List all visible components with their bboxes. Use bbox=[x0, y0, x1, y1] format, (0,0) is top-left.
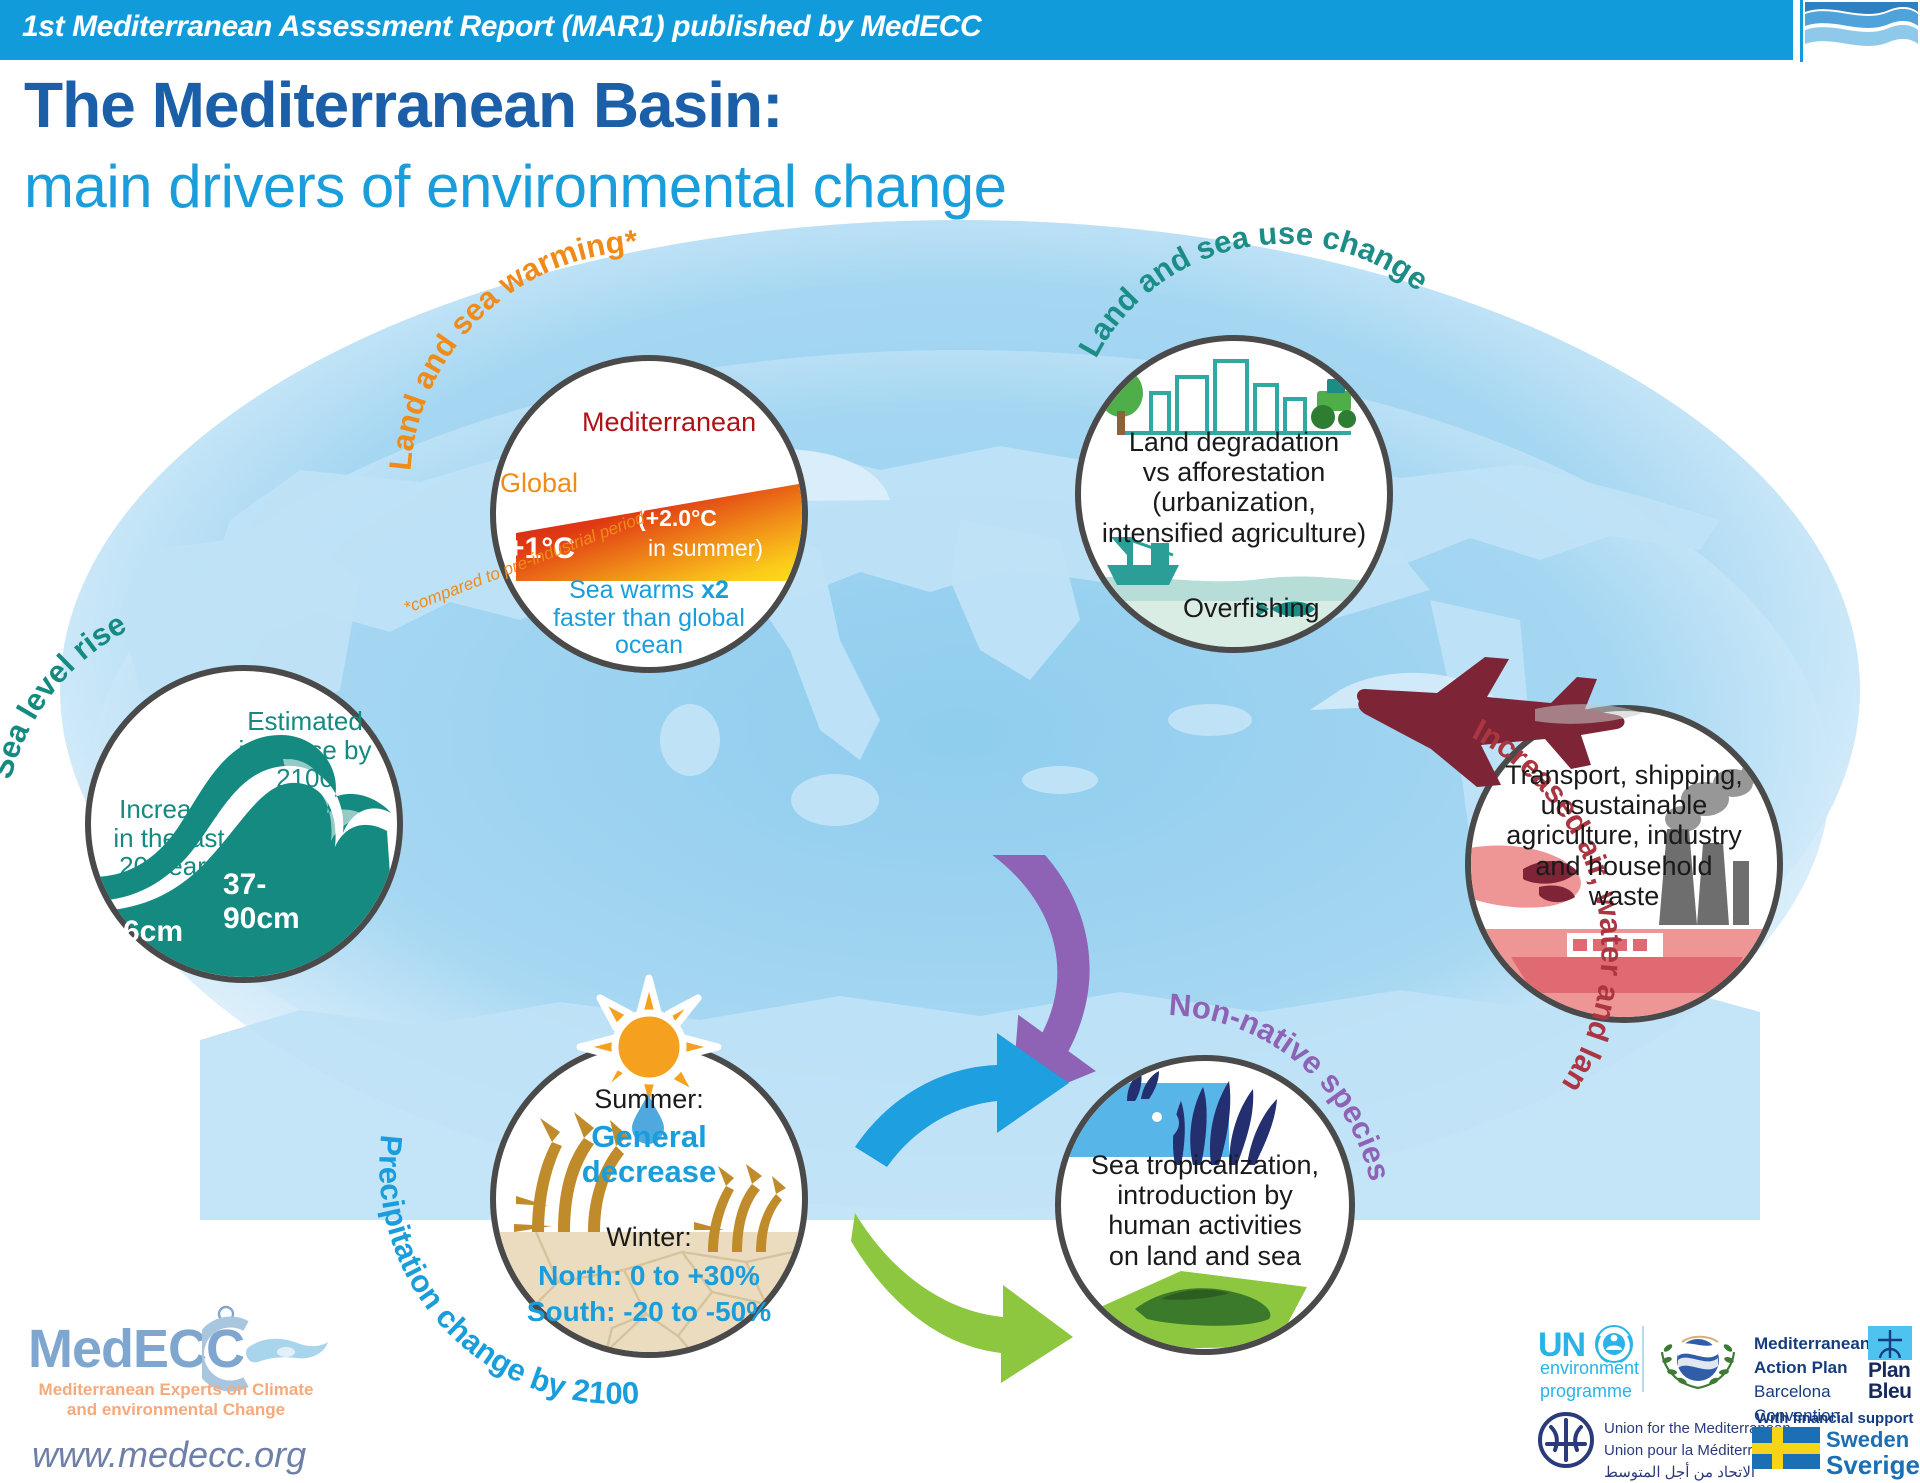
precipitation-summer-value: General decrease bbox=[490, 1120, 808, 1189]
map-l3: Barcelona bbox=[1754, 1382, 1831, 1401]
medecc-url[interactable]: www.medecc.org bbox=[32, 1434, 306, 1476]
sealevel-inc-l1: Increase bbox=[119, 794, 219, 824]
landuse-overfishing-label: Overfishing bbox=[1183, 593, 1320, 624]
precipitation-summer-label: Summer: bbox=[490, 1084, 808, 1115]
sealevel-increase-label: Increase in the last 20 years bbox=[99, 795, 239, 881]
precipitation-winter-north: North: 0 to +30% bbox=[490, 1260, 808, 1292]
sealevel-est-l1: Estimated bbox=[247, 706, 363, 736]
green-arrow-icon bbox=[845, 1185, 1085, 1385]
map-l1: Mediterranean bbox=[1754, 1334, 1870, 1353]
map-l2: Action Plan bbox=[1754, 1358, 1848, 1377]
sealevel-estimated-label: Estimated increase by 2100 bbox=[220, 707, 390, 793]
warming-sea-multiplier: x2 bbox=[701, 576, 729, 604]
sealevel-value-2100: 37-90cm bbox=[223, 868, 300, 936]
un-l1: environment bbox=[1540, 1358, 1639, 1378]
nonnative-description: Sea tropicalization, introduction by hum… bbox=[1069, 1150, 1341, 1271]
plan-l2: Bleu bbox=[1868, 1380, 1912, 1403]
sweden-flag-icon bbox=[1752, 1427, 1820, 1469]
page-title: The Mediterranean Basin: bbox=[24, 68, 782, 142]
blue-arrow-icon bbox=[847, 1015, 1077, 1195]
un-programme-text: environment programme bbox=[1540, 1357, 1639, 1402]
tractor-icon bbox=[1311, 379, 1356, 429]
sealevel-est-l3: 2100 bbox=[276, 763, 334, 793]
pollution-l2: unsustainable bbox=[1541, 790, 1708, 820]
mediterranean-action-plan-emblem-icon bbox=[1656, 1326, 1740, 1392]
logo-divider bbox=[1642, 1326, 1644, 1392]
precipitation-winter-label: Winter: bbox=[490, 1222, 808, 1253]
corner-wave-logo bbox=[1800, 0, 1920, 62]
landuse-l3: (urbanization, bbox=[1152, 487, 1316, 517]
plan-l1: Plan bbox=[1868, 1359, 1910, 1382]
precipitation-winter-south: South: -20 to -50% bbox=[490, 1296, 808, 1328]
plan-bleu-text: Plan Bleu bbox=[1868, 1360, 1912, 1402]
precip-summer-l1: General bbox=[591, 1119, 706, 1154]
nonnative-l3: human activities bbox=[1108, 1210, 1302, 1240]
page-subtitle: main drivers of environmental change bbox=[24, 152, 1007, 221]
pollution-l1: Transport, shipping, bbox=[1505, 760, 1743, 790]
warming-sea-l1a: Sea warms bbox=[569, 576, 701, 604]
warming-sea-l3: ocean bbox=[615, 631, 683, 659]
nonnative-l4: on land and sea bbox=[1109, 1241, 1301, 1271]
medecc-tag-l2: and environmental Change bbox=[67, 1400, 285, 1419]
precip-summer-l2: decrease bbox=[582, 1154, 716, 1189]
warming-mediterranean-label: Mediterranean bbox=[582, 407, 756, 438]
sealevel-inc-l2: in the last bbox=[113, 823, 224, 853]
sealevel-est-l2: increase by bbox=[239, 735, 372, 765]
sealevel-value-20y: 6cm bbox=[123, 915, 183, 949]
pollution-l5: waste bbox=[1589, 881, 1660, 911]
landuse-l2: vs afforestation bbox=[1143, 457, 1326, 487]
banner-text: 1st Mediterranean Assessment Report (MAR… bbox=[22, 10, 981, 44]
warming-sea-note: Sea warms x2 faster than global ocean bbox=[516, 577, 782, 660]
pollution-l3: agriculture, industry bbox=[1506, 820, 1742, 850]
pollution-l4: and household bbox=[1535, 851, 1712, 881]
tree-icon bbox=[1099, 369, 1143, 435]
warming-med-summer-label: in summer) bbox=[648, 535, 763, 562]
nonnative-l2: introduction by bbox=[1117, 1180, 1293, 1210]
warming-med-summer-value: (+2.0°C bbox=[638, 505, 717, 532]
nonnative-l1: Sea tropicalization, bbox=[1091, 1150, 1319, 1180]
warming-sea-l2: faster than global bbox=[553, 604, 745, 632]
medecc-tagline: Mediterranean Experts on Climate and env… bbox=[34, 1380, 318, 1421]
sweden-sv: Sverige bbox=[1826, 1450, 1920, 1481]
medecc-tag-l1: Mediterranean Experts on Climate bbox=[39, 1380, 314, 1399]
landuse-l1: Land degradation bbox=[1129, 427, 1339, 457]
warming-med-value: +1.5°C bbox=[635, 465, 740, 504]
plan-bleu-icon bbox=[1868, 1326, 1912, 1360]
partner-logos: UN environment programme bbox=[1520, 1300, 1920, 1478]
union-for-mediterranean-icon bbox=[1538, 1412, 1594, 1468]
warming-global-label: Global bbox=[500, 468, 578, 499]
landuse-description: Land degradation vs afforestation (urban… bbox=[1089, 427, 1379, 548]
sealevel-inc-l3: 20 years bbox=[119, 851, 219, 881]
un-l2: programme bbox=[1540, 1381, 1632, 1401]
landuse-l4: intensified agriculture) bbox=[1102, 518, 1366, 548]
pollution-description: Transport, shipping, unsustainable agric… bbox=[1475, 760, 1773, 911]
report-banner: 1st Mediterranean Assessment Report (MAR… bbox=[0, 0, 1793, 60]
infographic-canvas: 1st Mediterranean Assessment Report (MAR… bbox=[0, 0, 1920, 1478]
